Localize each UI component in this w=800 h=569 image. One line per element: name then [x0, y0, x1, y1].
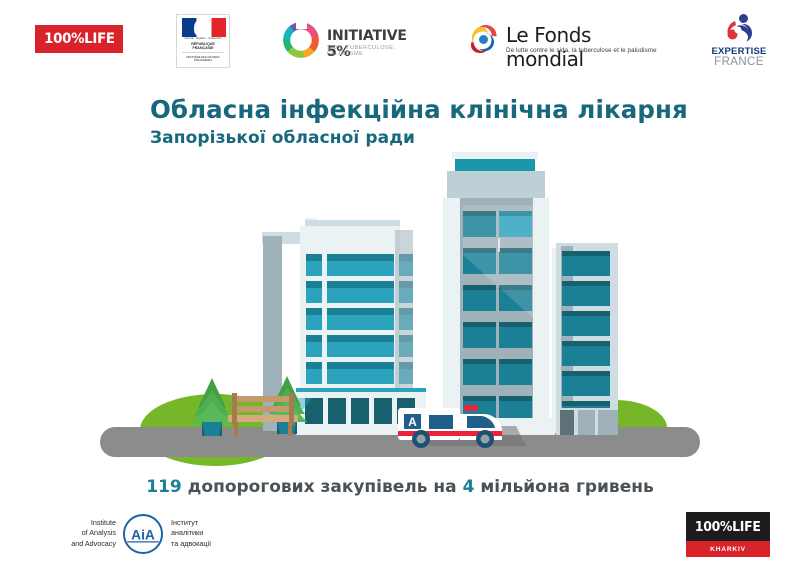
aia-ua-line-2: аналітики — [171, 528, 211, 538]
right-tower-base-panel-1 — [578, 410, 595, 435]
central-tower-roof-box — [447, 171, 545, 198]
logo-initiative-5-percent: INITIATIVE 5% SIDA, TUBERCULOSE, PALUDIS… — [283, 20, 418, 62]
caption-text-1: допорогових закупівель на — [182, 477, 463, 497]
aia-ua-line-3: та адвокації — [171, 539, 211, 549]
expertise-france-people-icon — [722, 12, 756, 44]
logo-initiative-subtitle: SIDA, TUBERCULOSE, PALUDISME — [327, 45, 418, 57]
central-tower-roof-band — [455, 159, 535, 171]
logo-100-percent-life: 100%LIFE — [35, 25, 123, 53]
logo-expertise-line2: FRANCE — [706, 56, 772, 68]
aia-en-line-1: Institute — [40, 518, 116, 528]
page-subtitle: Запорізької обласної ради — [150, 128, 690, 148]
partner-logo-bar: 100%LIFE Liberté · Égalité · Fraternité … — [0, 0, 800, 82]
logo-global-fund-subtitle: De lutte contre le sida, la tuberculose … — [506, 47, 657, 54]
logo-100-percent-life-text: 100%LIFE — [44, 31, 115, 47]
central-tower-antenna-cap — [452, 152, 538, 159]
logo-le-fonds-mondial: Le Fonds mondial De lutte contre le sida… — [468, 20, 663, 62]
life-kharkiv-city-box: KHARKIV — [686, 541, 770, 557]
logo-100-percent-life-kharkiv: 100%LIFE KHARKIV — [686, 512, 770, 557]
ambulance-badge-letter: A — [408, 415, 417, 429]
logo-institute-of-analysis-and-advocacy: Institute of Analysis and Advocacy AiA І… — [40, 513, 250, 557]
caption-text-2: мільйона гривень — [474, 477, 653, 497]
aia-english-name: Institute of Analysis and Advocacy — [40, 518, 116, 549]
logo-republique-francaise: Liberté · Égalité · Fraternité RÉPUBLIQU… — [176, 14, 230, 68]
caption-number-amount: 4 — [463, 477, 475, 497]
life-kharkiv-brand-text: 100%LIFE — [695, 519, 761, 535]
aia-en-line-2: of Analysis — [40, 528, 116, 538]
svg-text:AiA: AiA — [131, 527, 155, 542]
color-ring-icon — [283, 22, 319, 58]
life-kharkiv-brand-box: 100%LIFE — [686, 512, 770, 541]
page-title: Обласна інфекційна клінічна лікарня — [150, 96, 690, 124]
right-tower-base-door — [560, 410, 574, 435]
ambulance-hub-rear — [417, 435, 426, 444]
marianne-silhouette-icon — [194, 19, 208, 36]
logo-fr-ministry: MINISTÈRE DES AFFAIRES ÉTRANGÈRES — [182, 52, 224, 63]
life-kharkiv-city-text: KHARKIV — [710, 546, 746, 553]
logo-fr-motto: Liberté · Égalité · Fraternité — [182, 38, 224, 41]
logo-expertise-france: EXPERTISE FRANCE — [706, 12, 772, 70]
logo-fr-name: RÉPUBLIQUE FRANÇAISE — [182, 42, 224, 50]
ambulance-side-window — [429, 415, 453, 429]
left-block-ground-trim — [296, 388, 426, 392]
ambulance-light-bar — [464, 405, 478, 411]
aia-monogram-icon: AiA — [122, 513, 164, 555]
global-fund-spiral-icon — [468, 23, 500, 55]
aia-ukrainian-name: Інститут аналітики та адвокації — [171, 518, 211, 549]
hospital-building-illustration: A — [0, 150, 800, 470]
right-tower-base-panel-2 — [598, 410, 618, 435]
aia-ua-line-1: Інститут — [171, 518, 211, 528]
page-title-block: Обласна інфекційна клінічна лікарня Запо… — [150, 96, 690, 148]
statistics-caption: 119 допорогових закупівель на 4 мільйона… — [0, 477, 800, 497]
ambulance-hub-front — [481, 435, 490, 444]
caption-number-purchases: 119 — [146, 477, 182, 497]
aia-en-line-3: and Advocacy — [40, 539, 116, 549]
